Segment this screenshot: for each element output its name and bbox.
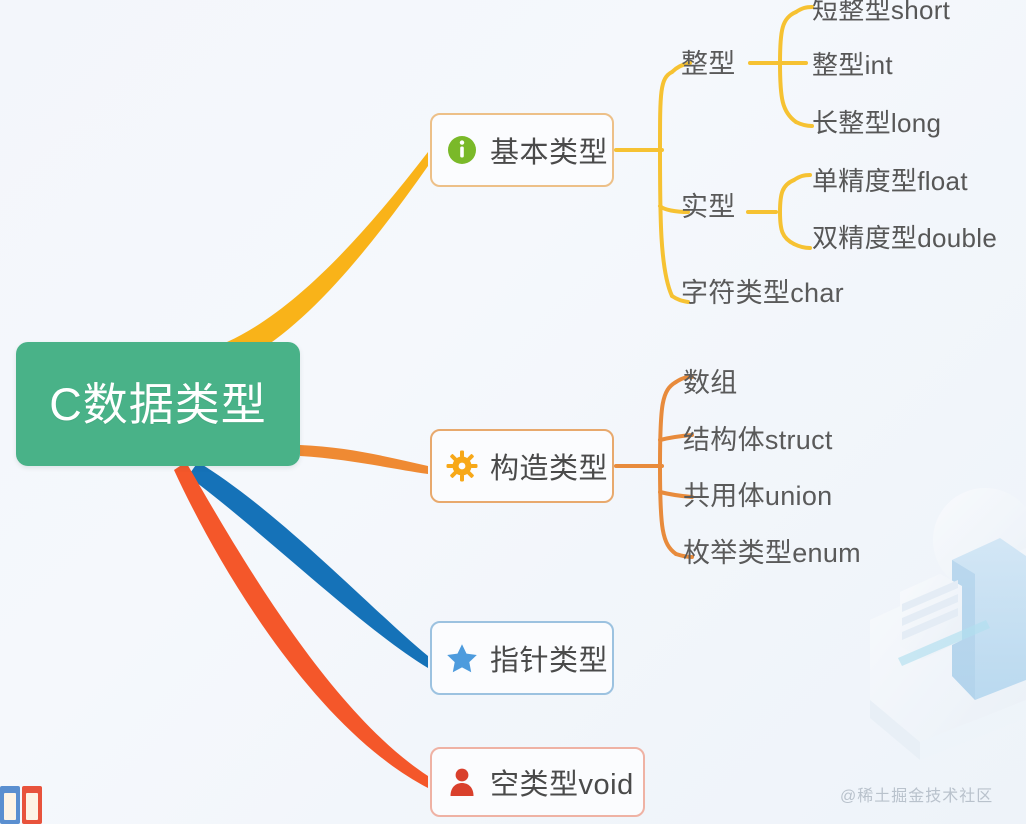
info-circle-icon [446,134,478,166]
star-icon [446,642,478,674]
leaf-label-struct[interactable]: 结构体struct [683,427,833,454]
branch-node-void[interactable]: 空类型void [430,747,645,817]
edge-root-to-void [174,462,428,788]
corner-chip-group [0,786,42,824]
edge-real-to-double [794,244,810,248]
leaf-label-int[interactable]: 整型int [812,52,893,78]
branch-node-basic[interactable]: 基本类型 [430,113,614,187]
leaf-label-short[interactable]: 短整型short [812,0,950,23]
leaf-label-char[interactable]: 字符类型char [681,280,844,307]
branch-node-struct[interactable]: 构造类型 [430,429,614,503]
leaf-label-real[interactable]: 实型 [681,194,736,221]
branch-node-pointer[interactable]: 指针类型 [430,621,614,695]
leaf-label-float[interactable]: 单精度型float [812,168,968,194]
root-node-label: C数据类型 [49,382,267,427]
edge-int-to-short [796,7,812,12]
red-chip-icon[interactable] [22,786,42,824]
edge-root-to-pointer [188,462,428,668]
edge-basic-spine [660,72,672,296]
branch-node-basic-label: 基本类型 [490,129,608,171]
edge-root-to-struct [300,445,428,474]
leaf-label-union[interactable]: 共用体union [683,483,832,510]
leaf-label-integer[interactable]: 整型 [681,51,736,78]
edge-struct-spine [660,382,676,554]
watermark: @稀土掘金技术社区 [840,782,993,806]
branch-node-struct-label: 构造类型 [490,445,608,487]
leaf-label-double[interactable]: 双精度型double [812,225,997,251]
branch-node-void-label: 空类型void [490,761,634,803]
blue-chip-icon[interactable] [0,786,20,824]
leaf-label-long[interactable]: 长整型long [812,110,941,136]
leaf-label-enum[interactable]: 枚举类型enum [683,540,861,567]
mindmap-canvas: C数据类型 基本类型 构造类型 [0,0,1026,824]
edge-real-to-float [794,175,810,180]
root-node[interactable]: C数据类型 [16,342,300,466]
edge-real-spine [780,180,794,244]
branch-node-pointer-label: 指针类型 [490,637,608,679]
gear-icon [446,450,478,482]
person-icon [446,766,478,798]
leaf-label-array[interactable]: 数组 [683,370,738,397]
edge-int-spine [780,12,796,122]
edge-root-to-basic [200,152,428,372]
edge-int-to-long [796,122,812,126]
